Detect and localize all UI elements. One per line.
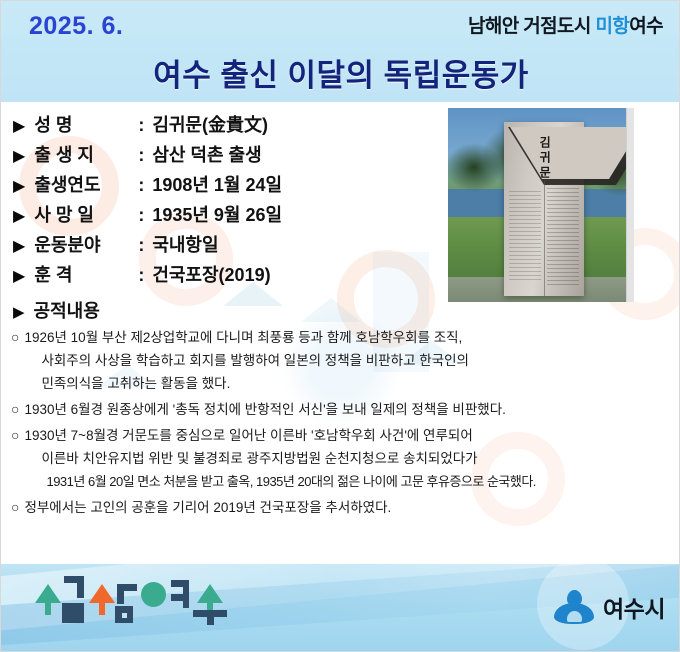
achievement-lines: 1930년 7~8월경 거문도를 중심으로 일어난 이른바 '호남학우회 사건'…: [24, 424, 673, 493]
fact-value: 1908년 1월 24일: [152, 171, 282, 197]
yeosu-city-logo-icon: [554, 590, 594, 624]
achievement-line: 정부에서는 고인의 공훈을 기리어 2019년 건국포장을 추서하였다.: [24, 496, 673, 519]
wordmark-glyph-2f: [122, 613, 127, 618]
wordmark-glyph-2b: [99, 602, 105, 615]
fact-label: 성 명: [34, 111, 138, 137]
fact-row-field: ▶ 운동분야 : 국내항일: [13, 231, 443, 261]
achievement-lines: 1930년 6월경 원종상에게 '총독 정치에 반항적인 서신'을 보내 일제의…: [24, 398, 673, 421]
brand-prefix-text: 남해안 거점도시: [468, 16, 596, 37]
achievement-line: 1930년 6월경 원종상에게 '총독 정치에 반항적인 서신'을 보내 일제의…: [24, 398, 673, 421]
city-brand-logo: 남해안 거점도시 미항여수: [468, 11, 663, 38]
achievement-item: ○ 1930년 6월경 원종상에게 '총독 정치에 반항적인 서신'을 보내 일…: [11, 398, 673, 421]
achievement-line: 이른바 치안유지법 위반 및 불경죄로 광주지방법원 순천지청으로 송치되었다가: [24, 447, 673, 470]
achievement-line: 1930년 7~8월경 거문도를 중심으로 일어난 이른바 '호남학우회 사건'…: [24, 424, 673, 447]
monument-engraved-text-left: [509, 191, 541, 282]
achievement-item: ○ 정부에서는 고인의 공훈을 기리어 2019년 건국포장을 추서하였다.: [11, 496, 673, 519]
city-logo-notch: [567, 611, 582, 622]
fact-label: 출생연도: [34, 171, 138, 197]
achievement-item: ○ 1930년 7~8월경 거문도를 중심으로 일어난 이른바 '호남학우회 사…: [11, 424, 673, 493]
wordmark-glyph-4c: [183, 580, 189, 608]
fact-row-deathdate: ▶ 사 망 일 : 1935년 9월 26일: [13, 201, 443, 231]
monument-inscribed-name: 김귀문: [537, 136, 551, 181]
city-signature: 여수시: [554, 590, 665, 624]
photo-scrollbar[interactable]: [626, 108, 634, 302]
fact-label: 운동분야: [34, 231, 138, 257]
fact-row-birthdate: ▶ 출생연도 : 1908년 1월 24일: [13, 171, 443, 201]
page-title: 여수 출신 이달의 독립운동가: [1, 50, 680, 95]
wordmark-glyph-1a: [35, 584, 61, 603]
triangle-bullet-icon: ▶: [13, 239, 25, 255]
fact-value: 김귀문(金貴文): [152, 111, 268, 137]
wordmark-glyph-2d: [117, 584, 124, 604]
circle-bullet-icon: ○: [11, 326, 19, 349]
triangle-bullet-icon: ▶: [13, 119, 25, 135]
brand-suffix-text: 여수: [629, 16, 663, 37]
fact-label: 사 망 일: [34, 201, 138, 227]
fact-colon: :: [138, 235, 144, 256]
circle-bullet-icon: ○: [11, 496, 19, 519]
monument-photo: 김귀문: [448, 108, 634, 302]
fact-value: 국내항일: [152, 231, 218, 257]
fact-colon: :: [138, 205, 144, 226]
city-name-label: 여수시: [603, 590, 665, 624]
header-band: 2025. 6. 남해안 거점도시 미항여수 여수 출신 이달의 독립운동가: [1, 1, 680, 102]
profile-fact-list: ▶ 성 명 : 김귀문(金貴文) ▶ 출 생 지 : 삼산 덕촌 출생 ▶ 출생…: [13, 111, 443, 291]
achievement-lines: 정부에서는 고인의 공훈을 기리어 2019년 건국포장을 추서하였다.: [24, 496, 673, 519]
fact-row-name: ▶ 성 명 : 김귀문(金貴文): [13, 111, 443, 141]
monument-engraved-text-right: [547, 184, 579, 285]
wordmark-glyph-5d: [207, 610, 214, 625]
monument-stone: 김귀문: [504, 122, 584, 297]
brand-accent-text: 미항: [595, 16, 629, 37]
city-logo-drop: [567, 590, 582, 606]
achievement-item: ○ 1926년 10월 부산 제2상업학교에 다니며 최풍룡 등과 함께 호남학…: [11, 326, 673, 395]
fact-colon: :: [138, 145, 144, 166]
triangle-bullet-icon: ▶: [13, 209, 25, 225]
wordmark-glyph-1b: [45, 602, 51, 615]
fact-row-birthplace: ▶ 출 생 지 : 삼산 덕촌 출생: [13, 141, 443, 171]
circle-bullet-icon: ○: [11, 398, 19, 421]
footer-band: 여수시: [1, 564, 680, 652]
monument-vee-light: [510, 127, 634, 179]
circle-bullet-icon: ○: [11, 424, 19, 447]
fact-label: 출 생 지: [34, 141, 138, 167]
fact-row-award: ▶ 훈 격 : 건국포장(2019): [13, 261, 443, 291]
wordmark-glyph-1d: [77, 576, 84, 598]
achievement-line: 1926년 10월 부산 제2상업학교에 다니며 최풍룡 등과 함께 호남학우회…: [24, 326, 673, 349]
achievements-heading: ▶ 공적내용: [13, 297, 100, 323]
triangle-bullet-icon: ▶: [13, 149, 25, 165]
achievement-lines: 1926년 10월 부산 제2상업학교에 다니며 최풍룡 등과 함께 호남학우회…: [24, 326, 673, 395]
fact-colon: :: [138, 175, 144, 196]
city-wordmark: [31, 570, 241, 632]
wordmark-glyph-3a: [141, 582, 166, 607]
watermark-chevron-icon: [301, 298, 361, 322]
fact-value: 건국포장(2019): [152, 261, 270, 287]
issue-date: 2025. 6.: [29, 12, 123, 41]
fact-label: 훈 격: [34, 261, 138, 287]
achievement-line: 1931년 6월 20일 면소 처분을 받고 출옥, 1935년 20대의 젊은…: [24, 470, 673, 493]
monument-edge: [544, 181, 545, 296]
fact-value: 삼산 덕촌 출생: [152, 141, 261, 167]
poster-root: 2025. 6. 남해안 거점도시 미항여수 여수 출신 이달의 독립운동가 ▶…: [0, 0, 680, 652]
triangle-bullet-icon: ▶: [13, 269, 25, 285]
achievements-body: ○ 1926년 10월 부산 제2상업학교에 다니며 최풍룡 등과 함께 호남학…: [11, 326, 673, 522]
wordmark-glyph-1e: [62, 603, 84, 623]
achievements-heading-label: 공적내용: [34, 297, 100, 323]
wordmark-glyph-5a: [197, 584, 223, 603]
fact-value: 1935년 9월 26일: [152, 201, 282, 227]
fact-colon: :: [138, 265, 144, 286]
fact-colon: :: [138, 115, 144, 136]
triangle-bullet-icon: ▶: [13, 305, 25, 320]
achievement-line: 사회주의 사상을 학습하고 회지를 발행하여 일본의 정책을 비판하고 한국인의: [24, 349, 673, 372]
wordmark-glyph-2a: [89, 584, 115, 603]
achievement-line: 민족의식을 고취하는 활동을 했다.: [24, 372, 673, 395]
triangle-bullet-icon: ▶: [13, 179, 25, 195]
